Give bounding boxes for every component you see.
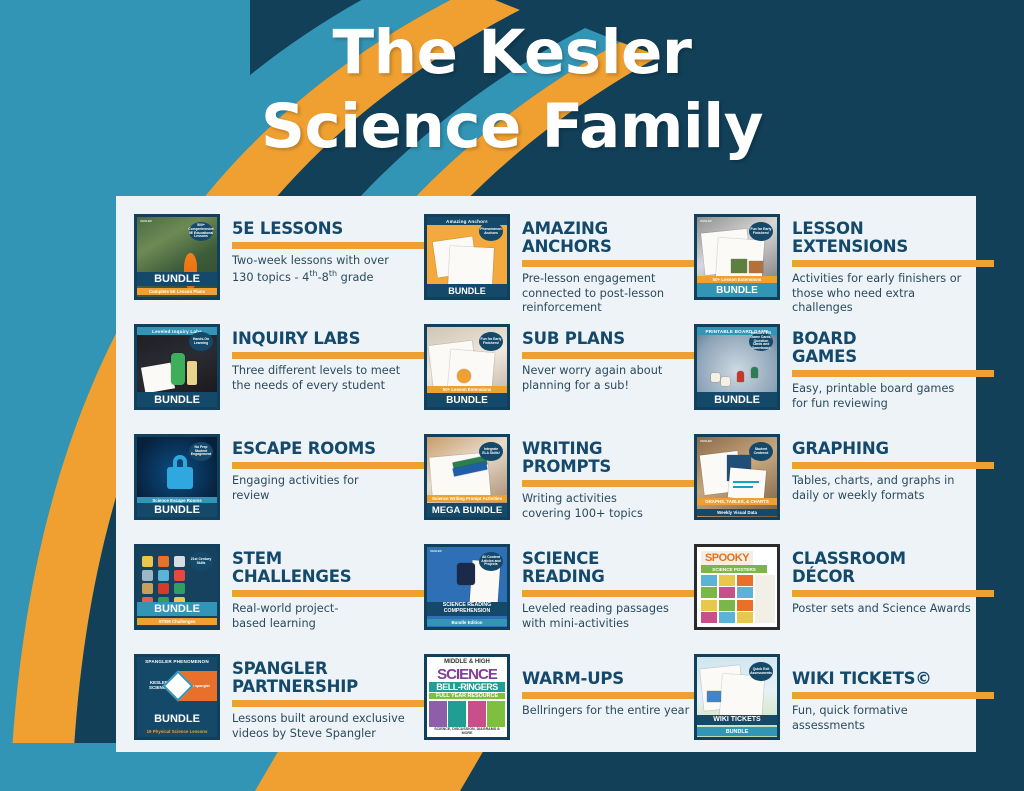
thumbnail-band-label: BUNDLE — [137, 272, 217, 286]
card-description: Activities for early finishers or those … — [792, 272, 994, 317]
card-info: LESSON EXTENSIONS Activities for early f… — [780, 214, 994, 316]
product-grid: KESLER 500+ Comprehensive 5E Educational… — [116, 196, 976, 752]
cover-line-4: FULL YEAR RESOURCE — [429, 693, 505, 699]
poster-thumb — [701, 587, 717, 598]
thumbnail-band-label: MEGA BUNDLE — [427, 503, 507, 517]
card-rule — [522, 352, 694, 359]
card-title-line-1: AMAZING — [522, 219, 608, 238]
poster-thumb — [719, 587, 735, 598]
desc-line-2: based learning — [232, 617, 316, 630]
poster-thumb — [737, 575, 753, 586]
desc-line-1: Leveled reading passages — [522, 602, 669, 615]
chart-line — [733, 486, 753, 488]
thumbnail-band-label: BUNDLE — [697, 392, 777, 407]
card-info: SCIENCE READING Leveled reading passages… — [510, 544, 694, 631]
cover-line-5: SCIENCE, DISCUSSION, DIAGRAMS & MORE — [429, 727, 505, 735]
cover-line-2: SCIENCE — [427, 666, 507, 683]
padlock-body-icon — [167, 467, 193, 489]
desc-line-1: Pre-lesson engagement — [522, 272, 655, 285]
paper-sheet — [728, 467, 766, 500]
poster-thumb — [719, 575, 735, 586]
thumbnail-badge: Integrate ELA Skills! — [479, 442, 503, 461]
flask-icon — [187, 361, 197, 385]
thumbnail-escape-rooms: No Prep Student Engagement Science Escap… — [134, 434, 220, 520]
product-card-spangler-partnership[interactable]: KESLERSCIENCE steve spangler SPANGLER PH… — [134, 654, 424, 764]
thumbnail-wrap: Fun for Early Finishers! 50+ Lesson Exte… — [424, 324, 510, 410]
card-title-line-2: EXTENSIONS — [792, 237, 908, 256]
stem-icon — [142, 556, 153, 567]
thumbnail-wrap: Integrate ELA Skills! Science Writing Pr… — [424, 434, 510, 520]
card-info: STEM CHALLENGES Real-world project- base… — [220, 544, 424, 631]
thumbnail-wrap: 21st Century Skills BUNDLE STEM Challeng… — [134, 544, 220, 630]
desc-line-1: Writing activities — [522, 492, 617, 505]
card-rule — [232, 242, 424, 249]
card-title: SUB PLANS — [522, 330, 694, 348]
card-rule — [232, 590, 424, 597]
product-card-writing-prompts[interactable]: Integrate ELA Skills! Science Writing Pr… — [424, 434, 694, 544]
product-card-sub-plans[interactable]: Fun for Early Finishers! 50+ Lesson Exte… — [424, 324, 694, 434]
desc-line-1: Never worry again about — [522, 364, 662, 377]
thumbnail-5e-lessons: KESLER 500+ Comprehensive 5E Educational… — [134, 214, 220, 300]
card-title-line-1: CLASSROOM — [792, 549, 906, 568]
thumbnail-caption: STEM Challenges — [137, 618, 217, 625]
stem-icon — [142, 583, 153, 594]
product-card-science-reading[interactable]: KESLER All Content Articles and Projects… — [424, 544, 694, 654]
thumbnail-stem-challenges: 21st Century Skills BUNDLE STEM Challeng… — [134, 544, 220, 630]
card-rule — [792, 692, 994, 699]
product-card-classroom-decor[interactable]: SPOOKY SCIENCE POSTERS — [694, 544, 994, 654]
stem-icon — [158, 570, 169, 581]
desc-line-1: Real-world project- — [232, 602, 338, 615]
paper-sheet — [141, 363, 175, 394]
card-title: AMAZING ANCHORS — [522, 220, 694, 256]
card-description: Three different levels to meet the needs… — [232, 364, 424, 394]
thumbnail-inquiry-labs: Leveled Inquiry Labs Hands-On Learning B… — [134, 324, 220, 410]
card-title-line-2: READING — [522, 567, 605, 586]
card-title: WARM-UPS — [522, 670, 694, 688]
thumbnail-band-label: BUNDLE — [137, 602, 217, 616]
desc-line-2: connected to post-lesson — [522, 287, 664, 300]
thumbnail-caption: Complete 5E Lesson Plans — [137, 288, 217, 295]
thumbnail-caption: BUNDLE — [697, 727, 777, 736]
card-rule — [792, 590, 994, 597]
desc-line-1: Lessons built around exclusive — [232, 712, 405, 725]
thumbnail-wrap: PRINTABLE BOARD GAME Includes 175 Game C… — [694, 324, 780, 410]
kesler-logo-icon: KESLER — [700, 220, 712, 228]
card-description: Writing activities covering 100+ topics — [522, 492, 694, 522]
thumbnail-caption: 50+ Lesson Extensions — [697, 276, 777, 283]
kesler-logo-icon: KESLER — [430, 550, 442, 558]
product-card-wiki-tickets[interactable]: Quick Exit Assessments WIKI TICKETS BUND… — [694, 654, 994, 764]
thumbnail-wrap: No Prep Student Engagement Science Escap… — [134, 434, 220, 520]
card-title-line-1: BOARD — [792, 329, 856, 348]
thumbnail-badge: 500+ Comprehensive 5E Educational Lesson… — [189, 222, 213, 241]
desc-line-2: for fun reviewing — [792, 397, 888, 410]
card-title-line-2: ANCHORS — [522, 237, 612, 256]
poster-title-line-2: Science Family — [0, 90, 1024, 164]
cover-thumb — [448, 701, 466, 727]
thumbnail-band-label: BUNDLE — [137, 503, 217, 517]
thumbnail-wrap: SPOOKY SCIENCE POSTERS — [694, 544, 780, 630]
thumbnail-badge: Includes 175 Game Cards, Question Cards … — [749, 332, 773, 351]
product-card-graphing[interactable]: KESLER Student Centered GRAPHS, TABLES, … — [694, 434, 994, 544]
card-description: Real-world project- based learning — [232, 602, 424, 632]
thumbnail-warm-ups: MIDDLE & HIGH SCIENCE BELL-RINGERS FULL … — [424, 654, 510, 740]
card-title-line-1: SCIENCE — [522, 549, 599, 568]
thumbnail-caption: GRAPHS, TABLES, & CHARTS — [697, 498, 777, 505]
desc-line-1: Three different levels to meet — [232, 364, 400, 377]
stem-icon — [190, 570, 201, 581]
paper-sheet — [448, 246, 494, 288]
chart-line — [733, 481, 759, 483]
poster-thumb — [719, 600, 735, 611]
stem-icon — [174, 583, 185, 594]
thumbnail-band-label: WIKI TICKETS — [697, 715, 777, 725]
product-card-warm-ups[interactable]: MIDDLE & HIGH SCIENCE BELL-RINGERS FULL … — [424, 654, 694, 764]
orange-dot — [457, 369, 471, 383]
thumbnail-badge: No Prep Student Engagement — [189, 442, 213, 461]
thumbnail-wrap: KESLERSCIENCE steve spangler SPANGLER PH… — [134, 654, 220, 740]
product-card-inquiry-labs[interactable]: Leveled Inquiry Labs Hands-On Learning B… — [134, 324, 424, 434]
card-title-line-1: WRITING — [522, 439, 602, 458]
card-title: STEM CHALLENGES — [232, 550, 424, 586]
thumbnail-badge: Hands-On Learning — [189, 332, 213, 351]
thumbnail-wrap: KESLER Student Centered GRAPHS, TABLES, … — [694, 434, 780, 520]
poster-thumb — [737, 587, 753, 598]
desc-line-2: covering 100+ topics — [522, 507, 643, 520]
card-description: Pre-lesson engagement connected to post-… — [522, 272, 694, 317]
poster-thumb — [701, 575, 717, 586]
card-title: LESSON EXTENSIONS — [792, 220, 994, 256]
thumbnail-badge: Quick Exit Assessments — [749, 662, 773, 681]
thumbnail-caption: Bundle Edition — [427, 619, 507, 626]
product-card-escape-rooms[interactable]: No Prep Student Engagement Science Escap… — [134, 434, 424, 544]
card-title: 5E LESSONS — [232, 220, 424, 238]
desc-line-1: Activities for early finishers or — [792, 272, 961, 285]
thumbnail-badge: All Content Articles and Projects — [479, 552, 503, 571]
product-card-lesson-extensions[interactable]: KESLER Fun for Early Finishers! 50+ Less… — [694, 214, 994, 324]
desc-line-3: challenges — [792, 301, 853, 314]
poster-thumb — [701, 600, 717, 611]
card-description: Poster sets and Science Awards — [792, 602, 994, 617]
card-title: SCIENCE READING — [522, 550, 694, 586]
card-title: ESCAPE ROOMS — [232, 440, 424, 458]
thumbnail-wrap: MIDDLE & HIGH SCIENCE BELL-RINGERS FULL … — [424, 654, 510, 740]
card-description: Lessons built around exclusive videos by… — [232, 712, 424, 742]
desc-line-2-post: grade — [337, 270, 373, 283]
game-pawn-icon — [737, 371, 744, 382]
card-title: SPANGLER PARTNERSHIP — [232, 660, 424, 696]
cover-thumb — [429, 701, 447, 727]
card-info: SPANGLER PARTNERSHIP Lessons built aroun… — [220, 654, 424, 741]
dice-icon — [721, 377, 730, 386]
product-card-board-games[interactable]: PRINTABLE BOARD GAME Includes 175 Game C… — [694, 324, 994, 434]
card-title: WRITING PROMPTS — [522, 440, 694, 476]
card-info: SUB PLANS Never worry again about planni… — [510, 324, 694, 394]
card-info: CLASSROOM DÉCOR Poster sets and Science … — [780, 544, 994, 617]
card-title-line-2: GAMES — [792, 347, 857, 366]
thumbnail-badge: Phenomenon Anchors — [479, 222, 503, 241]
card-title-line-2: PARTNERSHIP — [232, 677, 358, 696]
card-info: AMAZING ANCHORS Pre-lesson engagement co… — [510, 214, 694, 316]
product-card-amazing-anchors[interactable]: Amazing Anchors Phenomenon Anchors BUNDL… — [424, 214, 694, 324]
thumbnail-badge: Student Centered — [749, 442, 773, 461]
poster-root: The Kesler Science Family KESLER 500+ Co… — [0, 0, 1024, 791]
thumbnail-amazing-anchors: Amazing Anchors Phenomenon Anchors BUNDL… — [424, 214, 510, 300]
dice-icon — [711, 373, 720, 382]
poster-title: The Kesler Science Family — [0, 16, 1024, 165]
stem-icon — [174, 556, 185, 567]
poster-thumb — [737, 612, 753, 623]
card-title-line-1: SPANGLER — [232, 659, 327, 678]
thumbnail-band-label: BUNDLE — [697, 283, 777, 297]
spooky-title-text: SPOOKY — [701, 551, 753, 565]
card-title: CLASSROOM DÉCOR — [792, 550, 994, 586]
thumbnail-band-label: SCIENCE READING COMPREHENSION — [427, 602, 507, 616]
card-rule — [792, 462, 994, 469]
desc-line-2: those who need extra — [792, 287, 915, 300]
thumbnail-band-label: BUNDLE — [427, 284, 507, 297]
card-title: BOARD GAMES — [792, 330, 994, 366]
thumbnail-spangler-partnership: KESLERSCIENCE steve spangler SPANGLER PH… — [134, 654, 220, 740]
card-description: Two-week lessons with over 130 topics - … — [232, 254, 424, 286]
card-title: INQUIRY LABS — [232, 330, 424, 348]
desc-line-1: Fun, quick formative — [792, 704, 908, 717]
stem-icon — [174, 570, 185, 581]
card-description: Tables, charts, and graphs in daily or w… — [792, 474, 994, 504]
poster-side-panel — [755, 575, 775, 623]
thumbnail-classroom-decor: SPOOKY SCIENCE POSTERS — [694, 544, 780, 630]
beaker-icon — [171, 353, 185, 385]
card-description: Engaging activities for review — [232, 474, 424, 504]
thumbnail-science-reading: KESLER All Content Articles and Projects… — [424, 544, 510, 630]
desc-line-1: Tables, charts, and graphs in — [792, 474, 954, 487]
card-title: WIKI TICKETS© — [792, 670, 994, 688]
kesler-logo-icon: KESLER — [700, 440, 712, 448]
card-title-line-2: PROMPTS — [522, 457, 611, 476]
photo-chip — [749, 261, 763, 273]
cover-thumb — [468, 701, 486, 727]
thumbnail-board-games: PRINTABLE BOARD GAME Includes 175 Game C… — [694, 324, 780, 410]
thumbnail-wrap: KESLER All Content Articles and Projects… — [424, 544, 510, 630]
card-rule — [232, 352, 424, 359]
card-title-line-1: LESSON — [792, 219, 863, 238]
photo-chip — [731, 259, 747, 273]
card-description: Easy, printable board games for fun revi… — [792, 382, 994, 412]
stem-icon — [142, 570, 153, 581]
thumbnail-wiki-tickets: Quick Exit Assessments WIKI TICKETS BUND… — [694, 654, 780, 740]
game-pawn-icon — [751, 367, 758, 378]
thumbnail-wrap: KESLER 500+ Comprehensive 5E Educational… — [134, 214, 220, 300]
desc-line-1: Easy, printable board games — [792, 382, 954, 395]
card-rule — [792, 370, 994, 377]
card-description: Fun, quick formative assessments — [792, 704, 994, 734]
thumbnail-lesson-extensions: KESLER Fun for Early Finishers! 50+ Less… — [694, 214, 780, 300]
thumbnail-wrap: Leveled Inquiry Labs Hands-On Learning B… — [134, 324, 220, 410]
card-rule — [792, 260, 994, 267]
card-info: INQUIRY LABS Three different levels to m… — [220, 324, 424, 394]
card-title-line-1: STEM — [232, 549, 282, 568]
thumbnail-caption: Science Writing Prompt Activities — [427, 495, 507, 502]
product-card-5e-lessons[interactable]: KESLER 500+ Comprehensive 5E Educational… — [134, 214, 424, 324]
desc-line-2: videos by Steve Spangler — [232, 727, 376, 740]
desc-line-3: reinforcement — [522, 301, 602, 314]
card-rule — [522, 692, 694, 699]
thumbnail-band-label: Weekly Visual Data — [697, 509, 777, 516]
desc-line-2: daily or weekly formats — [792, 489, 924, 502]
thumbnail-top-label: SPANGLER PHENOMENON — [137, 657, 217, 665]
thumbnail-wrap: KESLER Fun for Early Finishers! 50+ Less… — [694, 214, 780, 300]
desc-sup-2: th — [329, 269, 337, 278]
desc-line-1: Bellringers for the entire year — [522, 704, 689, 717]
card-info: WIKI TICKETS© Fun, quick formative asses… — [780, 654, 994, 734]
card-info: WARM-UPS Bellringers for the entire year — [510, 654, 694, 719]
stem-icon — [190, 583, 201, 594]
desc-line-2: the needs of every student — [232, 379, 385, 392]
card-description: Never worry again about planning for a s… — [522, 364, 694, 394]
product-card-stem-challenges[interactable]: 21st Century Skills BUNDLE STEM Challeng… — [134, 544, 424, 654]
card-rule — [232, 700, 424, 707]
thumbnail-graphing: KESLER Student Centered GRAPHS, TABLES, … — [694, 434, 780, 520]
thumbnail-band-label: BUNDLE — [427, 393, 507, 407]
thumbnail-wrap: Amazing Anchors Phenomenon Anchors BUNDL… — [424, 214, 510, 300]
stem-icon — [158, 556, 169, 567]
poster-thumb-grid — [701, 575, 753, 623]
desc-line-2: assessments — [792, 719, 865, 732]
card-info: BOARD GAMES Easy, printable board games … — [780, 324, 994, 411]
stem-icon — [158, 583, 169, 594]
photo-chip — [707, 691, 721, 702]
desc-line-2: planning for a sub! — [522, 379, 629, 392]
card-rule — [522, 260, 694, 267]
thumbnail-sub-plans: Fun for Early Finishers! 50+ Lesson Exte… — [424, 324, 510, 410]
science-posters-text: SCIENCE POSTERS — [701, 565, 767, 573]
card-title-line-2: CHALLENGES — [232, 567, 352, 586]
desc-line-1: Poster sets and Science Awards — [792, 602, 971, 615]
thumbnail-badge: Fun for Early Finishers! — [749, 222, 773, 241]
cover-line-3: BELL-RINGERS — [429, 682, 505, 692]
poster-title-line-1: The Kesler — [333, 17, 692, 88]
thumbnail-band-label: BUNDLE — [137, 712, 217, 726]
cover-thumb-grid — [429, 701, 505, 727]
poster-thumb — [701, 612, 717, 623]
card-info: 5E LESSONS Two-week lessons with over 13… — [220, 214, 424, 285]
cover-line-1: MIDDLE & HIGH — [427, 659, 507, 665]
card-rule — [522, 480, 694, 487]
desc-line-2: review — [232, 489, 269, 502]
desc-line-1: Engaging activities for — [232, 474, 359, 487]
binoculars-icon — [457, 563, 475, 585]
card-title-line-2: DÉCOR — [792, 567, 855, 586]
card-title: GRAPHING — [792, 440, 994, 458]
desc-line-2: with mini-activities — [522, 617, 629, 630]
desc-sup-1: th — [309, 269, 317, 278]
card-rule — [522, 590, 694, 597]
thumbnail-caption: 19 Physical Science Lessons — [137, 728, 217, 735]
thumbnail-writing-prompts: Integrate ELA Skills! Science Writing Pr… — [424, 434, 510, 520]
card-info: ESCAPE ROOMS Engaging activities for rev… — [220, 434, 424, 504]
desc-mid: -8 — [318, 270, 329, 283]
kesler-logo-icon: KESLER — [140, 220, 152, 228]
thumbnail-badge: 21st Century Skills — [189, 552, 213, 571]
desc-line-1: Two-week lessons with over — [232, 254, 389, 267]
card-info: GRAPHING Tables, charts, and graphs in d… — [780, 434, 994, 504]
card-info: WRITING PROMPTS Writing activities cover… — [510, 434, 694, 521]
card-description: Leveled reading passages with mini-activ… — [522, 602, 694, 632]
desc-line-2-pre: 130 topics - 4 — [232, 270, 309, 283]
thumbnail-wrap: Quick Exit Assessments WIKI TICKETS BUND… — [694, 654, 780, 740]
thumbnail-band-label: BUNDLE — [137, 392, 217, 407]
card-description: Bellringers for the entire year — [522, 704, 694, 719]
thumbnail-badge: Fun for Early Finishers! — [479, 332, 503, 351]
thumbnail-caption: 50+ Lesson Extensions — [427, 386, 507, 393]
cover-thumb — [487, 701, 505, 727]
card-rule — [232, 462, 424, 469]
poster-thumb — [719, 612, 735, 623]
poster-thumb — [737, 600, 753, 611]
content-panel: KESLER 500+ Comprehensive 5E Educational… — [116, 196, 976, 752]
